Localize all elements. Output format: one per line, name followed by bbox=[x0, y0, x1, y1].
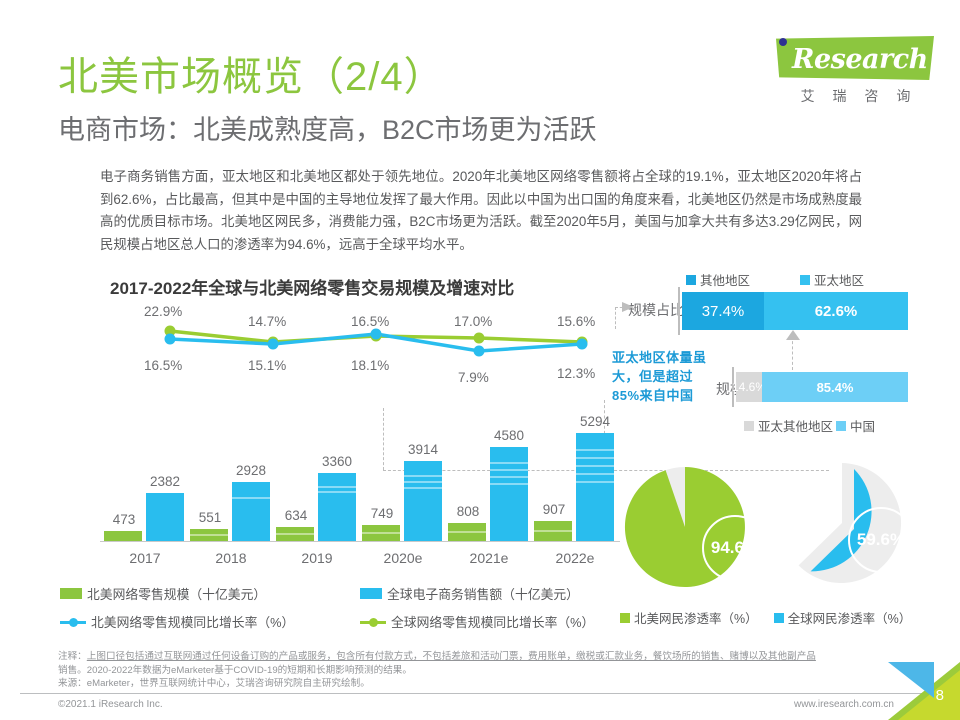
footer-divider bbox=[20, 693, 940, 694]
bar-group-2020e: 749 3914 bbox=[360, 429, 446, 541]
connector-dash-1 bbox=[615, 307, 616, 329]
bar-chart-legend: 北美网络零售规模（十亿美元） 全球电子商务销售额（十亿美元） 北美网络零售规模同… bbox=[60, 584, 620, 640]
bar-value-na-2019: 634 bbox=[266, 508, 326, 523]
line-label-na-2: 18.1% bbox=[351, 358, 389, 373]
bar-value-na-2022e: 907 bbox=[524, 502, 584, 517]
corner-triangle-blue bbox=[888, 662, 934, 698]
iresearch-logo: Research 艾 瑞 咨 询 bbox=[754, 36, 934, 108]
stacked-bottom-legend-china: 中国 bbox=[836, 416, 875, 435]
bar-global-2019 bbox=[318, 473, 356, 541]
line-label-na-4: 12.3% bbox=[557, 366, 595, 381]
line-label-global-0: 22.9% bbox=[144, 304, 182, 319]
bar-chart-axis bbox=[100, 541, 620, 542]
bar-na-2021e bbox=[448, 523, 486, 541]
stacked-top-seg-apac: 62.6% bbox=[764, 292, 908, 330]
legend-swatch-green bbox=[60, 588, 82, 599]
bar-global-2021e bbox=[490, 447, 528, 541]
bar-value-global-2021e: 4580 bbox=[479, 428, 539, 443]
bar-xlabel-2019: 2019 bbox=[274, 550, 360, 566]
pie-label-global: 59.6% bbox=[848, 507, 914, 573]
corner-decoration bbox=[888, 662, 960, 720]
logo-i-dot-icon bbox=[779, 38, 787, 46]
bar-value-global-2020e: 3914 bbox=[393, 442, 453, 457]
bar-value-global-2017: 2382 bbox=[135, 474, 195, 489]
bar-value-na-2017: 473 bbox=[94, 512, 154, 527]
pie-legend-swatch-na bbox=[620, 613, 630, 623]
bar-value-na-2020e: 749 bbox=[352, 506, 412, 521]
stacked-top-legend-other: 其他地区 bbox=[686, 270, 750, 289]
pie-chart-legend: 北美网民渗透率（%） 全球网民渗透率（%） bbox=[620, 608, 950, 627]
bar-na-2019 bbox=[276, 527, 314, 541]
legend-label-na-growth: 北美网络零售规模同比增长率（%） bbox=[91, 612, 294, 631]
connector-arrow-right-icon bbox=[622, 302, 634, 312]
bar-value-global-2018: 2928 bbox=[221, 463, 281, 478]
footnote-line-2: 销售。2020-2022年数据为eMarketer基于COVID-19的短期和长… bbox=[58, 664, 848, 678]
legend-item-na-scale: 北美网络零售规模（十亿美元） bbox=[60, 584, 360, 603]
pie-legend-item-global: 全球网民渗透率（%） bbox=[774, 608, 912, 627]
footnote-line-3: 来源：eMarketer，世界互联网统计中心，艾瑞咨询研究院自主研究绘制。 bbox=[58, 677, 848, 691]
legend-item-global-sales: 全球电子商务销售额（十亿美元） bbox=[360, 584, 579, 603]
stacked-top-caption: 规模占比 bbox=[628, 300, 684, 320]
logo-i-stem bbox=[780, 44, 786, 74]
footer-copyright: ©2021.1 iResearch Inc. bbox=[58, 699, 163, 710]
legend-label-na-scale: 北美网络零售规模（十亿美元） bbox=[87, 584, 266, 603]
page-title: 北美市场概览（2/4） bbox=[58, 44, 445, 102]
footer-url: www.iresearch.com.cn bbox=[794, 699, 894, 710]
logo-wordmark: Research bbox=[776, 40, 934, 80]
retail-scale-bar-chart: 473 2382 2017 551 2928 2018 634 3360 201… bbox=[100, 420, 620, 570]
bar-global-2022e bbox=[576, 433, 614, 541]
growth-rate-line-chart: 22.9% 14.7% 16.5% 17.0% 15.6% 16.5% 15.1… bbox=[148, 300, 618, 390]
bar-na-2018 bbox=[190, 529, 228, 541]
line-label-global-4: 15.6% bbox=[557, 314, 595, 329]
penetration-pie-charts: 94.6% 59.6% bbox=[620, 455, 950, 630]
footnote-note-text: 上图口径包括通过互联网通过任何设备订购的产品或服务，包含所有付款方式，不包括差旅… bbox=[87, 651, 816, 662]
legend-label-global-sales: 全球电子商务销售额（十亿美元） bbox=[387, 584, 579, 603]
bar-group-2018: 551 2928 bbox=[188, 429, 274, 541]
pie-legend-label-global: 全球网民渗透率（%） bbox=[788, 608, 912, 627]
line-label-na-0: 16.5% bbox=[144, 358, 182, 373]
legend-swatch-cyan bbox=[360, 588, 382, 599]
legend-label-other-region: 其他地区 bbox=[700, 270, 750, 289]
bar-xlabel-2020e: 2020e bbox=[360, 550, 446, 566]
bar-value-global-2022e: 5294 bbox=[565, 414, 625, 429]
stacked-bar-top: 37.4% 62.6% bbox=[678, 292, 908, 330]
stacked-bottom-legend-apac-other: 亚太其他地区 bbox=[744, 416, 833, 435]
footnote-block: 注释：上图口径包括通过互联网通过任何设备订购的产品或服务，包含所有付款方式，不包… bbox=[58, 650, 848, 691]
stacked-top-legend-apac: 亚太地区 bbox=[800, 270, 864, 289]
bar-global-2020e bbox=[404, 461, 442, 541]
line-label-global-3: 17.0% bbox=[454, 314, 492, 329]
legend-item-na-growth: 北美网络零售规模同比增长率（%） bbox=[60, 612, 360, 631]
bar-value-global-2019: 3360 bbox=[307, 454, 367, 469]
legend-swatch-china bbox=[836, 421, 846, 431]
footnote-source-prefix: 来源： bbox=[58, 678, 87, 689]
bar-na-2020e bbox=[362, 525, 400, 541]
page-number: 8 bbox=[936, 687, 944, 704]
bar-group-2019: 634 3360 bbox=[274, 429, 360, 541]
bar-value-na-2021e: 808 bbox=[438, 504, 498, 519]
footnote-line-1: 注释：上图口径包括通过互联网通过任何设备订购的产品或服务，包含所有付款方式，不包… bbox=[58, 650, 848, 664]
legend-label-apac-other: 亚太其他地区 bbox=[758, 416, 833, 435]
stacked-bar-bottom: 14.6% 85.4% bbox=[732, 372, 908, 402]
stacked-top-seg-other: 37.4% bbox=[682, 292, 764, 330]
legend-swatch-apac-other bbox=[744, 421, 754, 431]
pie-label-north-america: 94.6% bbox=[702, 515, 768, 581]
bar-group-2022e: 907 5294 bbox=[532, 429, 618, 541]
legend-label-apac: 亚太地区 bbox=[814, 270, 864, 289]
connector-arrow-up-icon bbox=[786, 330, 800, 340]
pie-legend-swatch-global bbox=[774, 613, 784, 623]
page-subtitle: 电商市场：北美成熟度高，B2C市场更为活跃 bbox=[58, 108, 597, 147]
connector-dash-7 bbox=[792, 336, 793, 370]
stacked-bottom-seg-china: 85.4% bbox=[762, 372, 908, 402]
bar-na-2017 bbox=[104, 531, 142, 541]
legend-line-cyan bbox=[60, 616, 86, 627]
logo-chinese-name: 艾 瑞 咨 询 bbox=[784, 86, 934, 106]
legend-row-1: 北美网络零售规模（十亿美元） 全球电子商务销售额（十亿美元） bbox=[60, 584, 620, 603]
legend-item-global-growth: 全球网络零售规模同比增长率（%） bbox=[360, 612, 594, 631]
line-label-global-2: 16.5% bbox=[351, 314, 389, 329]
line-label-global-1: 14.7% bbox=[248, 314, 286, 329]
pie-legend-label-na: 北美网民渗透率（%） bbox=[634, 608, 758, 627]
bar-na-2022e bbox=[534, 521, 572, 541]
line-label-na-1: 15.1% bbox=[248, 358, 286, 373]
intro-paragraph: 电子商务销售方面，亚太地区和北美地区都处于领先地位。2020年北美地区网络零售额… bbox=[100, 166, 862, 256]
legend-line-green bbox=[360, 616, 386, 627]
line-label-na-3: 7.9% bbox=[458, 370, 489, 385]
legend-label-china: 中国 bbox=[850, 416, 875, 435]
pie-legend-item-na: 北美网民渗透率（%） bbox=[620, 608, 758, 627]
stacked-top-tick bbox=[678, 287, 680, 335]
chart-title: 2017-2022年全球与北美网络零售交易规模及增速对比 bbox=[110, 274, 514, 299]
bar-xlabel-2021e: 2021e bbox=[446, 550, 532, 566]
legend-swatch-other-region bbox=[686, 275, 696, 285]
legend-label-global-growth: 全球网络零售规模同比增长率（%） bbox=[391, 612, 594, 631]
bar-xlabel-2018: 2018 bbox=[188, 550, 274, 566]
footnote-source-text: eMarketer，世界互联网统计中心，艾瑞咨询研究院自主研究绘制。 bbox=[87, 678, 370, 689]
footnote-note-prefix: 注释： bbox=[58, 651, 87, 662]
bar-group-2021e: 808 4580 bbox=[446, 429, 532, 541]
stacked-bottom-seg-apac-other: 14.6% bbox=[736, 372, 762, 402]
bar-xlabel-2022e: 2022e bbox=[532, 550, 618, 566]
bar-value-na-2018: 551 bbox=[180, 510, 240, 525]
apac-annotation: 亚太地区体量虽大，但是超过85%来自中国 bbox=[612, 348, 720, 405]
bar-xlabel-2017: 2017 bbox=[102, 550, 188, 566]
legend-swatch-apac bbox=[800, 275, 810, 285]
legend-row-2: 北美网络零售规模同比增长率（%） 全球网络零售规模同比增长率（%） bbox=[60, 612, 620, 631]
bar-group-2017: 473 2382 bbox=[102, 429, 188, 541]
